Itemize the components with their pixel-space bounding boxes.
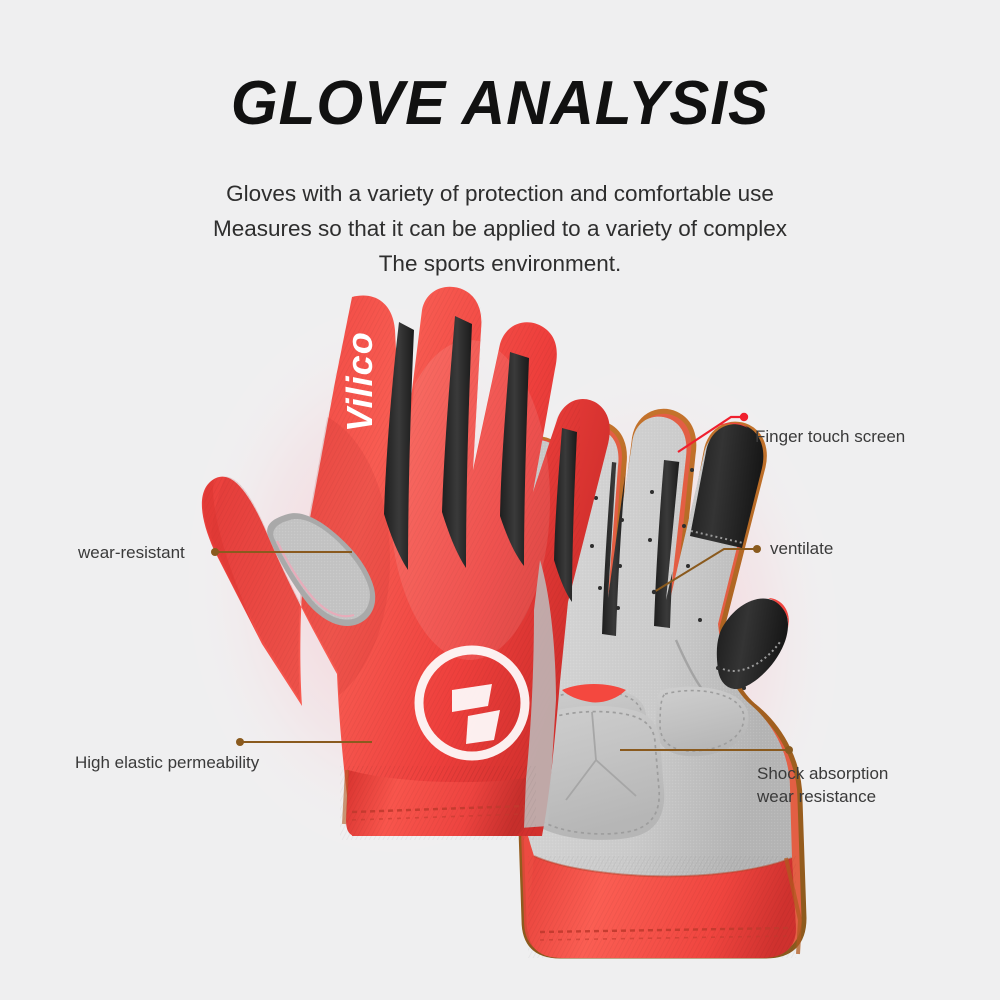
glove-product-illustration: Vilico	[0, 0, 1000, 1000]
subtitle-line-1: Gloves with a variety of protection and …	[0, 176, 1000, 211]
brand-logo-text: Vilico	[339, 331, 380, 432]
callout-label-ventilate: ventilate	[770, 538, 833, 560]
callout-label-wear-resistant: wear-resistant	[78, 542, 185, 564]
callout-label-shock-absorption: Shock absorption wear resistance	[757, 762, 967, 808]
infographic-canvas: Vilico	[0, 0, 1000, 1000]
svg-text:Vilico: Vilico	[339, 331, 380, 432]
subtitle-line-3: The sports environment.	[0, 246, 1000, 281]
page-title: GLOVE ANALYSIS	[15, 68, 985, 139]
page-subtitle: Gloves with a variety of protection and …	[0, 176, 1000, 281]
callout-shock-line-2: wear resistance	[757, 785, 967, 808]
callout-label-high-elastic-permeability: High elastic permeability	[75, 752, 259, 774]
callout-label-finger-touch-screen: Finger touch screen	[755, 426, 905, 448]
subtitle-line-2: Measures so that it can be applied to a …	[0, 211, 1000, 246]
callout-shock-line-1: Shock absorption	[757, 762, 967, 785]
